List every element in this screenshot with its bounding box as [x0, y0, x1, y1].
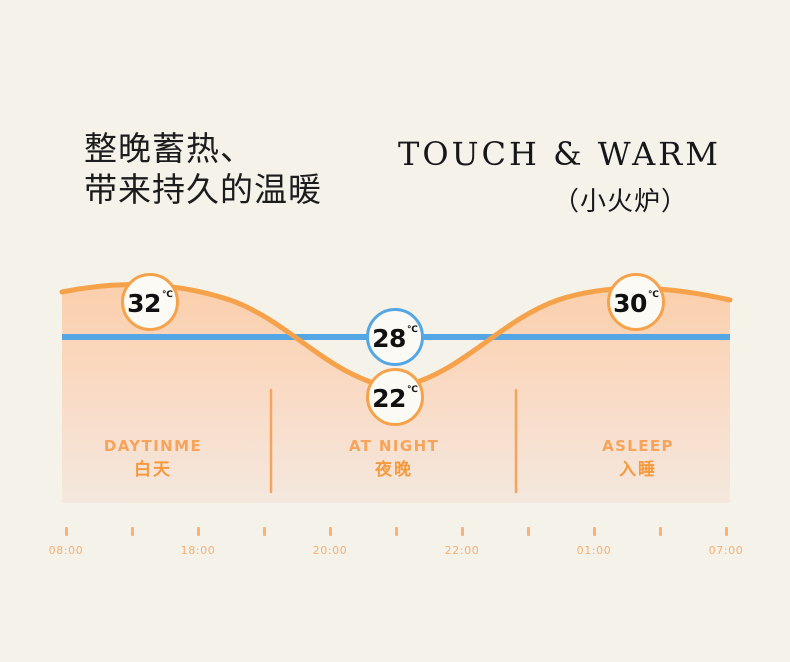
headline-chinese: 整晚蓄热、 带来持久的温暖	[84, 128, 404, 210]
axis-tick	[131, 527, 134, 536]
bubble-value: 32	[127, 291, 161, 316]
axis-tick	[527, 527, 530, 536]
temperature-bubble-22: 22 ℃	[366, 368, 424, 426]
phase-label-asleep: ASLEEP 入睡	[538, 436, 738, 482]
phase-label-at-night: AT NIGHT 夜晚	[294, 436, 494, 482]
axis-tick	[395, 527, 398, 536]
bubble-unit: ℃	[407, 326, 418, 335]
phase-label-cn: 夜晚	[294, 458, 494, 482]
brand-title-english: TOUCH & WARM	[398, 136, 721, 172]
bubble-value: 28	[372, 326, 406, 351]
axis-tick-label: 20:00	[290, 544, 370, 557]
axis-tick	[329, 527, 332, 536]
temperature-bubble-30: 30 ℃	[607, 273, 665, 331]
bubble-unit: ℃	[162, 291, 173, 300]
axis-tick	[593, 527, 596, 536]
axis-tick	[197, 527, 200, 536]
axis-tick	[65, 527, 68, 536]
phase-label-cn: 入睡	[538, 458, 738, 482]
bubble-value: 22	[372, 386, 406, 411]
axis-tick-label: 08:00	[26, 544, 106, 557]
axis-tick	[725, 527, 728, 536]
axis-tick	[263, 527, 266, 536]
axis-tick-label: 01:00	[554, 544, 634, 557]
phase-label-cn: 白天	[53, 458, 253, 482]
axis-tick	[659, 527, 662, 536]
axis-tick-label: 18:00	[158, 544, 238, 557]
temperature-bubble-32: 32 ℃	[121, 273, 179, 331]
phase-label-en: AT NIGHT	[294, 436, 494, 456]
phase-label-en: ASLEEP	[538, 436, 738, 456]
temperature-bubble-28: 28 ℃	[366, 308, 424, 366]
axis-tick-label: 22:00	[422, 544, 502, 557]
bubble-unit: ℃	[407, 386, 418, 395]
phase-label-en: DAYTINME	[53, 436, 253, 456]
axis-tick-label: 07:00	[686, 544, 766, 557]
infographic-stage: 整晚蓄热、 带来持久的温暖 TOUCH & WARM （小火炉）	[0, 0, 790, 662]
axis-tick	[461, 527, 464, 536]
bubble-value: 30	[613, 291, 647, 316]
phase-label-daytime: DAYTINME 白天	[53, 436, 253, 482]
bubble-unit: ℃	[648, 291, 659, 300]
brand-title-chinese: （小火炉）	[553, 186, 688, 218]
